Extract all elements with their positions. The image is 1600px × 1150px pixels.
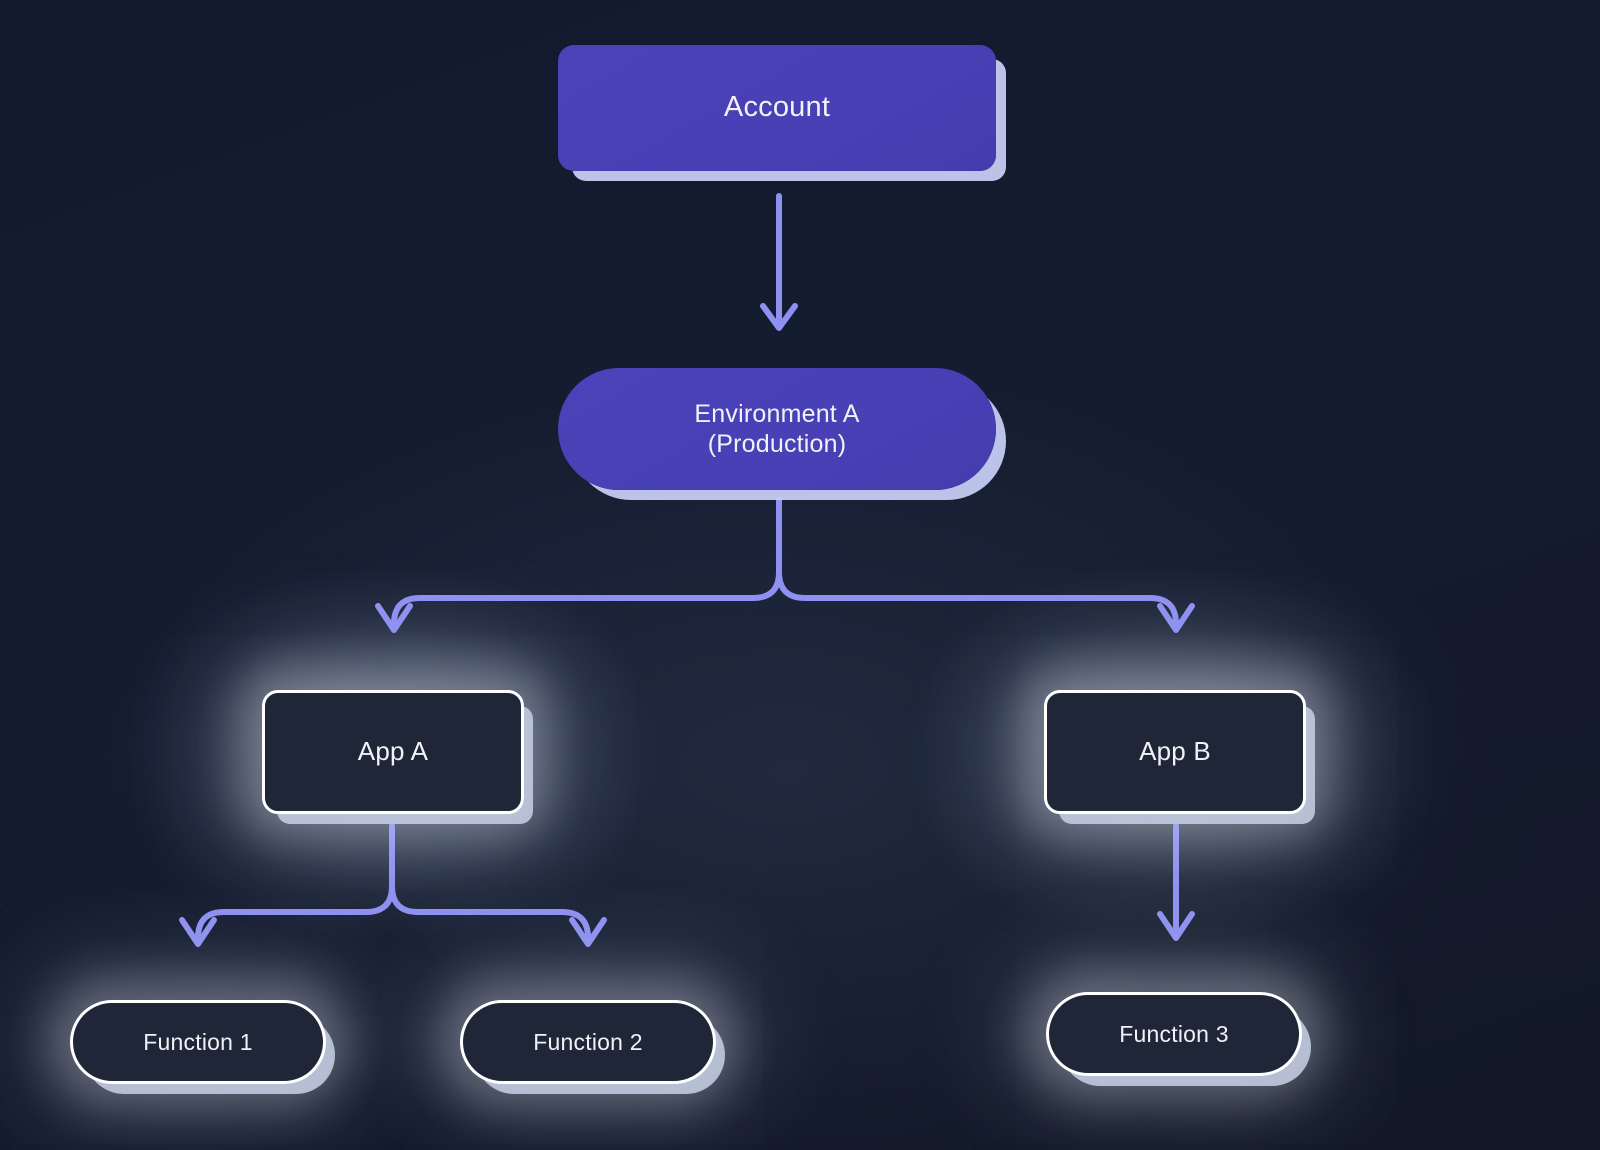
node-app-b[interactable]: App B — [1044, 690, 1306, 814]
node-account[interactable]: Account — [558, 45, 996, 171]
connector-layer: .edge { fill:none; stroke:#8e90f2; strok… — [0, 0, 1600, 1150]
edge-app-b-to-function-3 — [1160, 826, 1192, 938]
edge-account-to-environment — [763, 196, 795, 328]
node-function-1-label: Function 1 — [133, 1028, 262, 1056]
node-function-3[interactable]: Function 3 — [1046, 992, 1302, 1076]
node-function-1[interactable]: Function 1 — [70, 1000, 326, 1084]
node-app-b-label: App B — [1129, 736, 1221, 768]
node-app-a-label: App A — [348, 736, 438, 768]
edge-environment-to-apps — [378, 500, 1192, 630]
node-function-2-label: Function 2 — [523, 1028, 652, 1056]
node-account-label: Account — [714, 90, 840, 125]
node-environment-a-label: Environment A (Production) — [684, 399, 869, 460]
edge-app-a-to-functions — [182, 826, 604, 944]
diagram-canvas: .edge { fill:none; stroke:#8e90f2; strok… — [0, 0, 1600, 1150]
node-function-3-label: Function 3 — [1109, 1020, 1238, 1048]
node-function-2[interactable]: Function 2 — [460, 1000, 716, 1084]
node-environment-a[interactable]: Environment A (Production) — [558, 368, 996, 490]
node-app-a[interactable]: App A — [262, 690, 524, 814]
